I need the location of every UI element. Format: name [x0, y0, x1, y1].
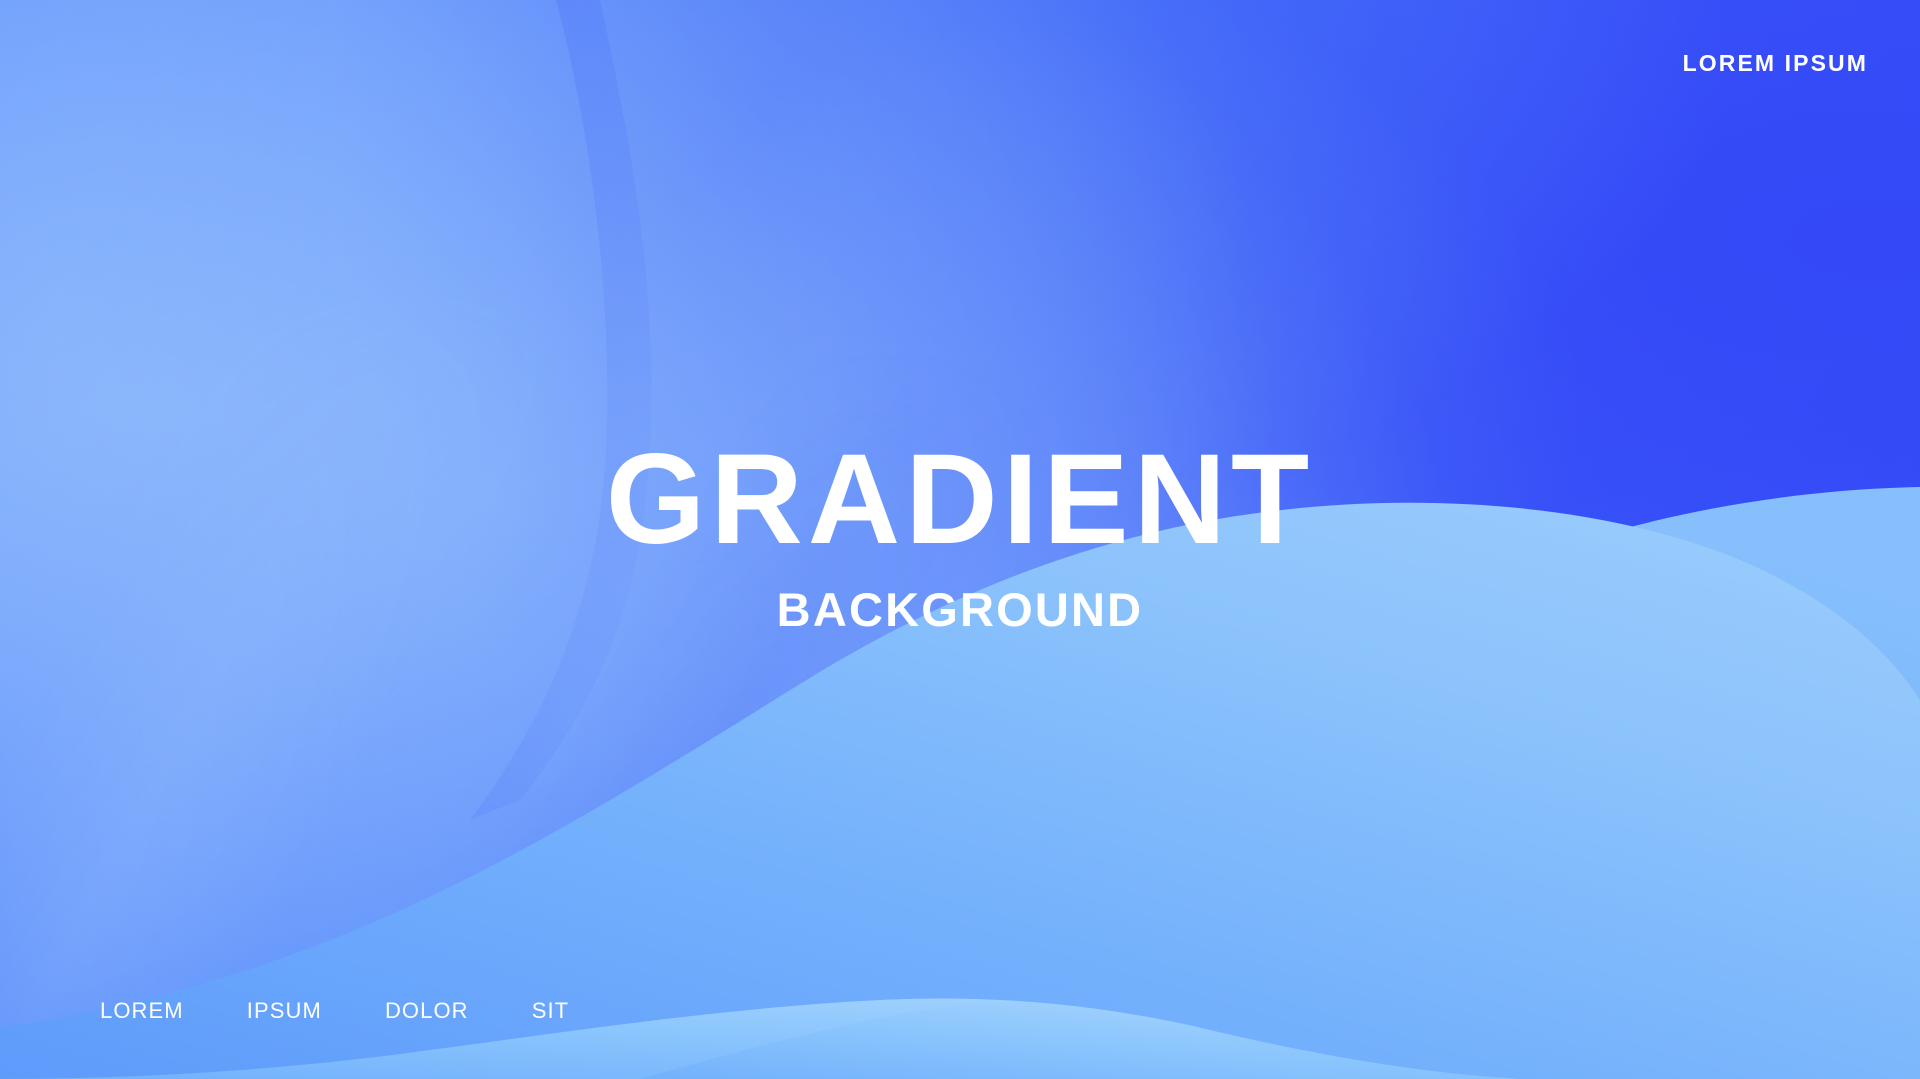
nav-item-dolor[interactable]: DOLOR — [385, 998, 469, 1024]
nav-item-lorem[interactable]: LOREM — [100, 998, 184, 1024]
nav-item-sit[interactable]: SIT — [532, 998, 570, 1024]
gradient-background-canvas: LOREM IPSUM GRADIENT BACKGROUND LOREM IP… — [0, 0, 1920, 1079]
page-title: GRADIENT — [0, 436, 1920, 564]
brand-label: LOREM IPSUM — [1683, 50, 1868, 77]
bottom-nav: LOREM IPSUM DOLOR SIT — [100, 998, 569, 1024]
hero-text-block: GRADIENT BACKGROUND — [0, 436, 1920, 633]
nav-item-ipsum[interactable]: IPSUM — [247, 998, 322, 1024]
page-subtitle: BACKGROUND — [0, 586, 1920, 633]
wave-top-edge-shadow — [470, 0, 651, 820]
